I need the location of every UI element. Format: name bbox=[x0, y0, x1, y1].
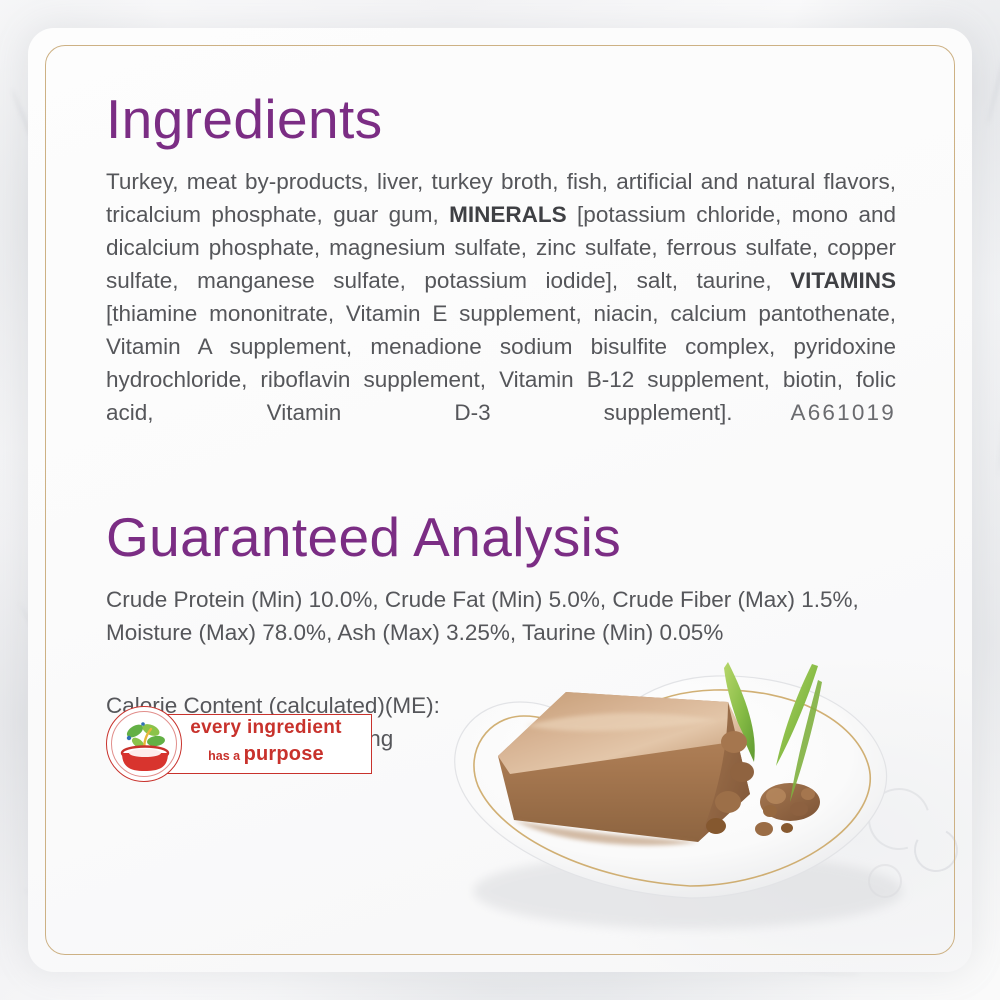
badge-line-1: every ingredient bbox=[166, 718, 366, 737]
badge-line-2-big: purpose bbox=[244, 743, 324, 765]
ingredients-heading: Ingredients bbox=[106, 92, 896, 147]
ingredients-text-after-vitamins: [thiamine mononitrate, Vitamin E supplem… bbox=[106, 301, 896, 425]
badge-line-2: has a purpose bbox=[166, 744, 366, 764]
every-ingredient-has-a-purpose-badge: every ingredient has a purpose bbox=[106, 706, 374, 782]
product-photo bbox=[398, 606, 958, 946]
bowl bbox=[122, 747, 168, 772]
ingredients-paragraph: Turkey, meat by-products, liver, turkey … bbox=[106, 165, 896, 462]
leaves bbox=[125, 722, 166, 751]
marble-vein bbox=[986, 18, 1000, 125]
vitamins-label: VITAMINS bbox=[790, 268, 896, 293]
minerals-label: MINERALS bbox=[449, 202, 567, 227]
badge-text: every ingredient has a purpose bbox=[166, 718, 366, 764]
badge-line-2-small: has a bbox=[208, 749, 240, 763]
guaranteed-analysis-heading: Guaranteed Analysis bbox=[106, 510, 896, 565]
heart-plate-illustration bbox=[398, 606, 958, 946]
lot-code: A661019 bbox=[791, 400, 897, 425]
